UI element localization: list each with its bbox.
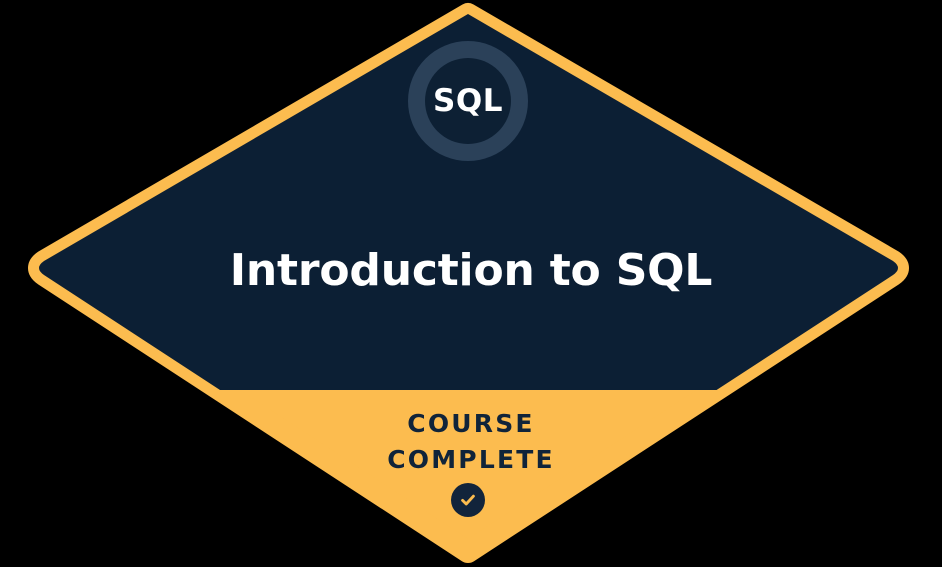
course-subject-badge[interactable]: SQL — [408, 41, 528, 161]
course-completion-card[interactable]: SQL Introduction to SQL COURSE COMPLETE — [0, 0, 942, 567]
badge-inner-circle: SQL — [425, 58, 511, 144]
check-circle-icon — [451, 483, 485, 517]
badge-abbreviation-label: SQL — [433, 86, 503, 117]
